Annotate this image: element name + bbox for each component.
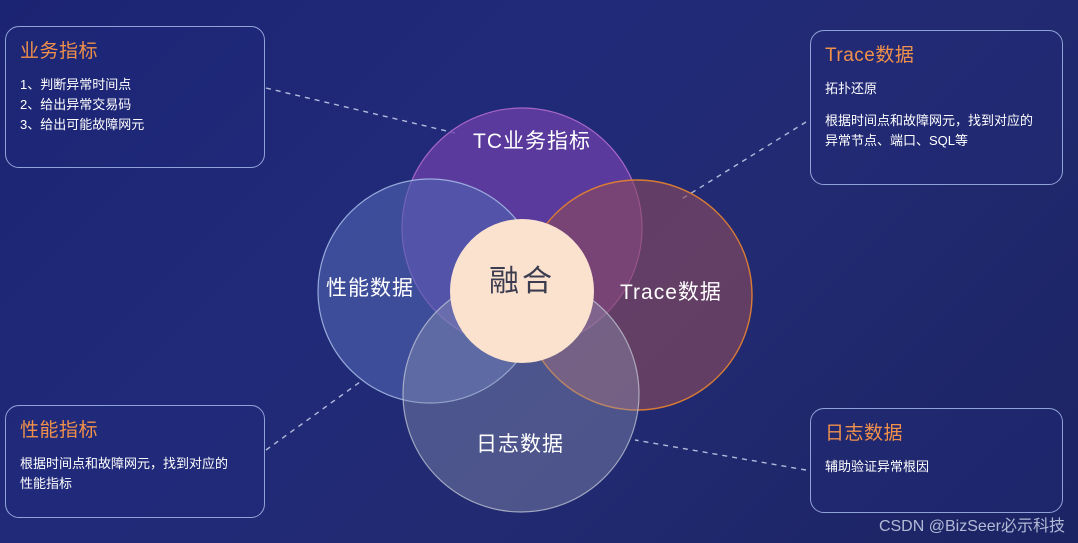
callout-performance-title: 性能指标 xyxy=(20,418,250,444)
callout-trace-spacer xyxy=(825,99,1048,111)
venn-label-log: 日志数据 xyxy=(476,433,564,457)
venn-label-fusion: 融合 xyxy=(480,265,564,299)
callout-business-metrics: 业务指标 1、判断异常时间点 2、给出异常交易码 3、给出可能故障网元 xyxy=(5,26,265,168)
connector-log xyxy=(635,440,806,470)
callout-log-data: 日志数据 辅助验证异常根因 xyxy=(810,408,1063,513)
callout-business-title: 业务指标 xyxy=(20,39,250,65)
venn-label-trace: Trace数据 xyxy=(620,281,722,305)
callout-performance-line-1: 根据时间点和故障网元，找到对应的 性能指标 xyxy=(20,454,250,494)
connector-business xyxy=(266,88,455,133)
venn-label-performance: 性能数据 xyxy=(326,277,414,301)
diagram-canvas: TC业务指标 性能数据 Trace数据 日志数据 融合 业务指标 1、判断异常时… xyxy=(0,0,1078,543)
callout-trace-line-1: 拓扑还原 xyxy=(825,79,1048,99)
callout-trace-data: Trace数据 拓扑还原 根据时间点和故障网元，找到对应的 异常节点、端口、SQ… xyxy=(810,30,1063,185)
callout-performance-metrics: 性能指标 根据时间点和故障网元，找到对应的 性能指标 xyxy=(5,405,265,518)
callout-trace-title: Trace数据 xyxy=(825,43,1048,69)
venn-label-tc-business: TC业务指标 xyxy=(473,130,591,154)
connector-trace xyxy=(680,122,806,200)
callout-trace-line-2: 根据时间点和故障网元，找到对应的 异常节点、端口、SQL等 xyxy=(825,111,1048,151)
callout-log-line-1: 辅助验证异常根因 xyxy=(825,457,1048,477)
callout-log-title: 日志数据 xyxy=(825,421,1048,447)
watermark-text: CSDN @BizSeer必示科技 xyxy=(879,517,1065,537)
callout-business-item-3: 3、给出可能故障网元 xyxy=(20,115,250,135)
callout-business-item-2: 2、给出异常交易码 xyxy=(20,95,250,115)
connector-perf xyxy=(266,382,360,450)
callout-business-item-1: 1、判断异常时间点 xyxy=(20,75,250,95)
